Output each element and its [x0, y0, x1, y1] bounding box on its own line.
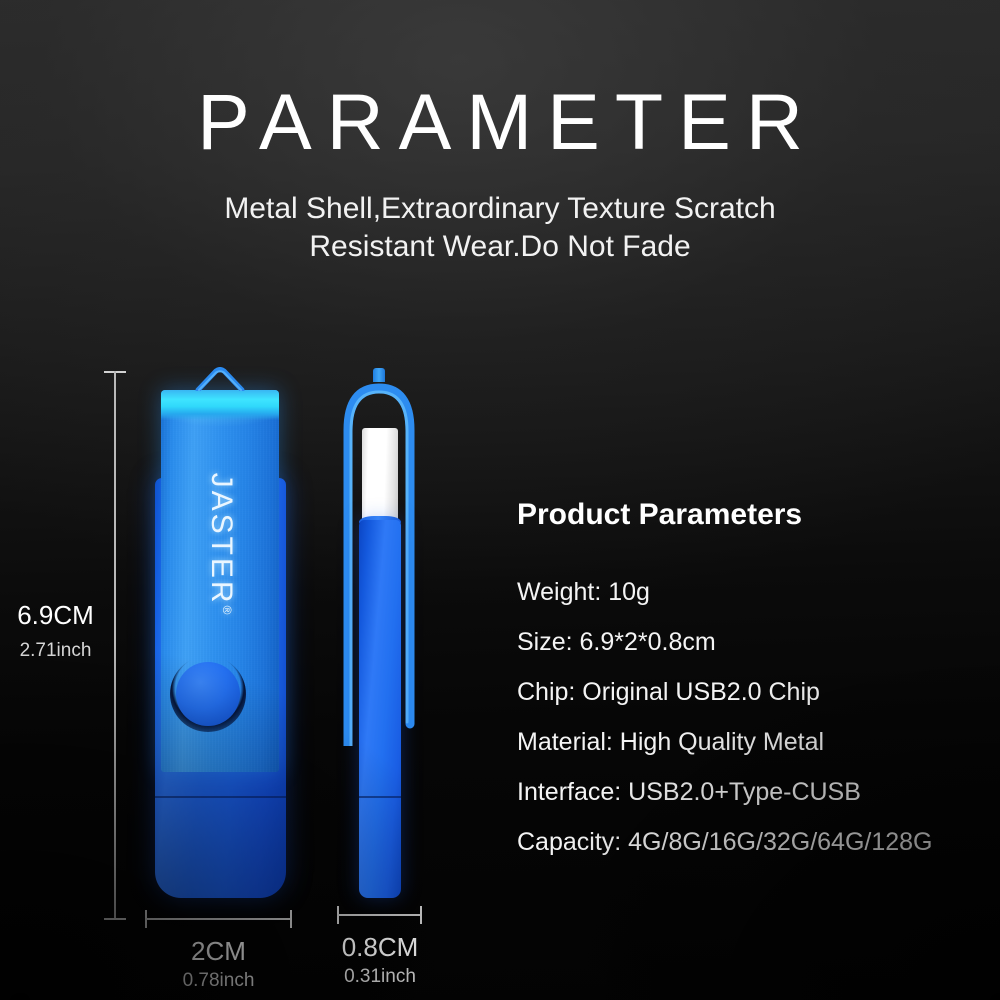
brand-name: JASTER — [205, 473, 238, 606]
subtitle-line-2: Resistant Wear.Do Not Fade — [0, 228, 1000, 266]
height-label-cm: 6.9CM — [8, 600, 103, 631]
spec-interface: Interface: USB2.0+Type-CUSB — [517, 778, 977, 807]
width-guide-line — [145, 918, 292, 920]
usb-pivot-circle — [176, 662, 240, 726]
spec-capacity: Capacity: 4G/8G/16G/32G/64G/128G — [517, 828, 977, 857]
registered-trademark-icon: ® — [220, 606, 234, 618]
keyring-loop-icon — [195, 367, 245, 391]
usb-side-body-seam — [359, 796, 401, 798]
height-label-inch: 2.71inch — [8, 640, 103, 662]
spec-weight: Weight: 10g — [517, 578, 977, 607]
subtitle-line-1: Metal Shell,Extraordinary Texture Scratc… — [0, 190, 1000, 228]
height-guide-line — [114, 371, 116, 920]
product-parameters-panel: Product Parameters Weight: 10g Size: 6.9… — [517, 498, 977, 857]
usb-side-body — [359, 520, 401, 898]
depth-label-inch: 0.31inch — [330, 966, 430, 988]
depth-label-cm: 0.8CM — [330, 932, 430, 963]
depth-guide-line — [337, 914, 422, 916]
cover-highlight-band — [161, 390, 279, 420]
brand-logo-text: JASTER® — [204, 473, 238, 618]
spec-material: Material: High Quality Metal — [517, 728, 977, 757]
depth-guide-cap-right — [420, 906, 422, 924]
page-subtitle: Metal Shell,Extraordinary Texture Scratc… — [0, 190, 1000, 266]
usb-drive-front-view: JASTER® — [148, 368, 293, 898]
width-label-inch: 0.78inch — [145, 970, 292, 992]
usb-drive-side-view — [340, 368, 420, 898]
height-guide-cap-bottom — [104, 918, 126, 920]
spec-chip: Chip: Original USB2.0 Chip — [517, 678, 977, 707]
spec-size: Size: 6.9*2*0.8cm — [517, 628, 977, 657]
panel-heading: Product Parameters — [517, 498, 977, 532]
page-title: PARAMETER — [0, 82, 1000, 161]
width-label-cm: 2CM — [145, 936, 292, 967]
usb-front-body-seam — [155, 796, 286, 798]
product-parameter-infographic: PARAMETER Metal Shell,Extraordinary Text… — [0, 0, 1000, 1000]
width-guide-cap-right — [290, 910, 292, 928]
